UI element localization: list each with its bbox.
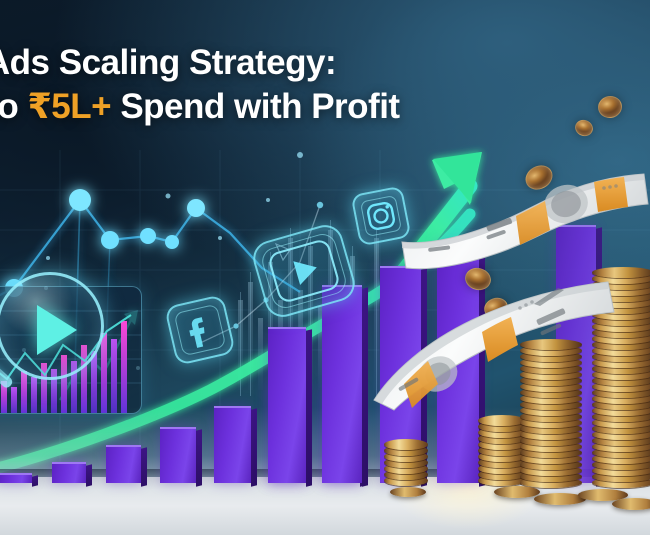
headline-line-2: k to ₹5L+ Spend with Profit — [0, 88, 578, 125]
page-title: a Ads Scaling Strategy: k to ₹5L+ Spend … — [0, 44, 578, 125]
bar-1 — [0, 473, 32, 483]
rupee-note-bundle-top — [398, 168, 650, 278]
bar-face — [160, 427, 196, 483]
headline-line-1: a Ads Scaling Strategy: — [0, 44, 578, 81]
banner-stage: a Ads Scaling Strategy: k to ₹5L+ Spend … — [0, 0, 650, 535]
bar-4 — [160, 427, 196, 483]
bar-side — [141, 447, 147, 486]
rupee-note-bottom-svg — [368, 280, 636, 412]
bar-9 — [322, 285, 362, 483]
coin-stack-small — [384, 440, 428, 486]
bar-face — [268, 327, 306, 483]
bar-8 — [268, 327, 306, 483]
coin-flat-4 — [612, 498, 650, 510]
headline-line-2-post: Spend with Profit — [111, 87, 399, 126]
bar-side — [251, 408, 257, 486]
bar-side — [306, 329, 312, 486]
bar-face — [52, 462, 86, 483]
bar-side — [32, 475, 38, 486]
bar-2 — [52, 462, 86, 483]
bar-face — [322, 285, 362, 483]
bar-side — [196, 429, 202, 486]
rupee-note-top-svg — [398, 168, 650, 278]
coin-flat-1 — [494, 486, 540, 498]
facebook-glyph — [166, 296, 233, 363]
bar-face — [0, 473, 32, 483]
rupee-note-bundle-bottom — [368, 280, 636, 412]
coin-flat-5 — [390, 487, 426, 497]
bar-5 — [214, 406, 251, 483]
bar-face — [214, 406, 251, 483]
coin-stack-small-2 — [478, 410, 526, 486]
bar-face — [106, 445, 141, 483]
magnifier-play-icon — [0, 272, 104, 380]
bar-side — [86, 464, 92, 486]
bar-3 — [106, 445, 141, 483]
play-triangle-icon — [37, 305, 77, 355]
headline-line-2-pre: k to — [0, 87, 27, 126]
headline-accent: ₹5L+ — [27, 87, 111, 126]
